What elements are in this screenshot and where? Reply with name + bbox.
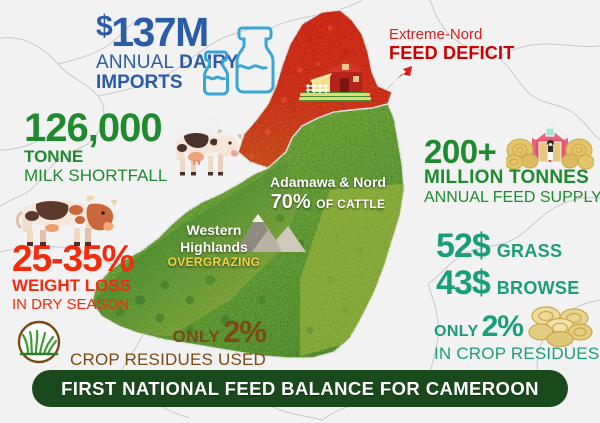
feed-supply-label: ANNUAL FEED SUPPLY bbox=[424, 189, 600, 207]
highlands-title-line1: Western bbox=[166, 222, 262, 239]
grass-circle-icon bbox=[14, 320, 64, 364]
brown-cow-icon bbox=[10, 188, 118, 250]
arrow-pointer-icon bbox=[382, 60, 416, 94]
grass-price-label: GRASS bbox=[497, 241, 563, 262]
crop-residues-used-percent: 2% bbox=[223, 314, 266, 350]
extreme-nord-region: Extreme-Nord bbox=[389, 26, 514, 43]
adamawa-title: Adamawa & Nord bbox=[263, 174, 393, 191]
barn-hay-icon bbox=[506, 118, 594, 176]
highlands-issue: OVERGRAZING bbox=[166, 255, 262, 269]
crop-residues-used-label: CROP RESIDUES USED bbox=[70, 350, 266, 370]
grass-price-value: 52$ bbox=[436, 228, 490, 265]
weight-loss-label: WEIGHT LOSS bbox=[12, 277, 134, 296]
milk-shortfall-stat: 126,000 TONNE MILK SHORTFALL bbox=[24, 108, 167, 185]
adamawa-stat: 70% OF CATTLE bbox=[263, 191, 393, 213]
crop-residues-used-only: ONLY bbox=[173, 327, 221, 347]
weight-loss-sublabel: IN DRY SEASON bbox=[12, 296, 134, 313]
crop-residues-share-percent: 2% bbox=[482, 310, 523, 344]
dairy-currency-symbol: $ bbox=[96, 10, 111, 43]
milk-shortfall-number: 126,000 bbox=[24, 108, 167, 148]
western-highlands-label: Western Highlands OVERGRAZING bbox=[166, 222, 262, 269]
dairy-amount-value: 137M bbox=[111, 9, 208, 55]
gold-coins-icon bbox=[528, 302, 594, 348]
milk-bottle-icon bbox=[196, 18, 282, 96]
adamawa-stat-value: 70% bbox=[271, 191, 311, 213]
milk-shortfall-label: MILK SHORTFALL bbox=[24, 167, 167, 186]
infographic-canvas: $137M ANNUAL DAIRY IMPORTS 126,000 TONNE… bbox=[0, 0, 600, 423]
banner-title: FIRST NATIONAL FEED BALANCE FOR CAMEROON bbox=[61, 378, 539, 400]
dairy-cow-icon bbox=[158, 108, 244, 182]
feed-price-list: 52$ GRASS 43$ BROWSE bbox=[436, 228, 580, 301]
dairy-annual-label: ANNUAL bbox=[96, 52, 179, 73]
browse-price-label: BROWSE bbox=[497, 278, 580, 299]
adamawa-stat-suffix: OF CATTLE bbox=[316, 197, 385, 211]
price-row-grass: 52$ GRASS bbox=[436, 228, 580, 265]
price-row-browse: 43$ BROWSE bbox=[436, 265, 580, 302]
browse-price-value: 43$ bbox=[436, 265, 490, 302]
weight-loss-stat: 25-35% WEIGHT LOSS IN DRY SEASON bbox=[12, 240, 134, 313]
highlands-title-line2: Highlands bbox=[166, 239, 262, 256]
crop-residues-used-stat: ONLY 2% CROP RESIDUES USED bbox=[14, 314, 266, 370]
adamawa-nord-label: Adamawa & Nord 70% OF CATTLE bbox=[263, 174, 393, 213]
bottom-banner: FIRST NATIONAL FEED BALANCE FOR CAMEROON bbox=[32, 370, 568, 407]
crop-residues-share-only: ONLY bbox=[434, 323, 479, 341]
milk-shortfall-unit: TONNE bbox=[24, 148, 167, 167]
extreme-nord-callout: Extreme-Nord FEED DEFICIT bbox=[389, 26, 514, 64]
